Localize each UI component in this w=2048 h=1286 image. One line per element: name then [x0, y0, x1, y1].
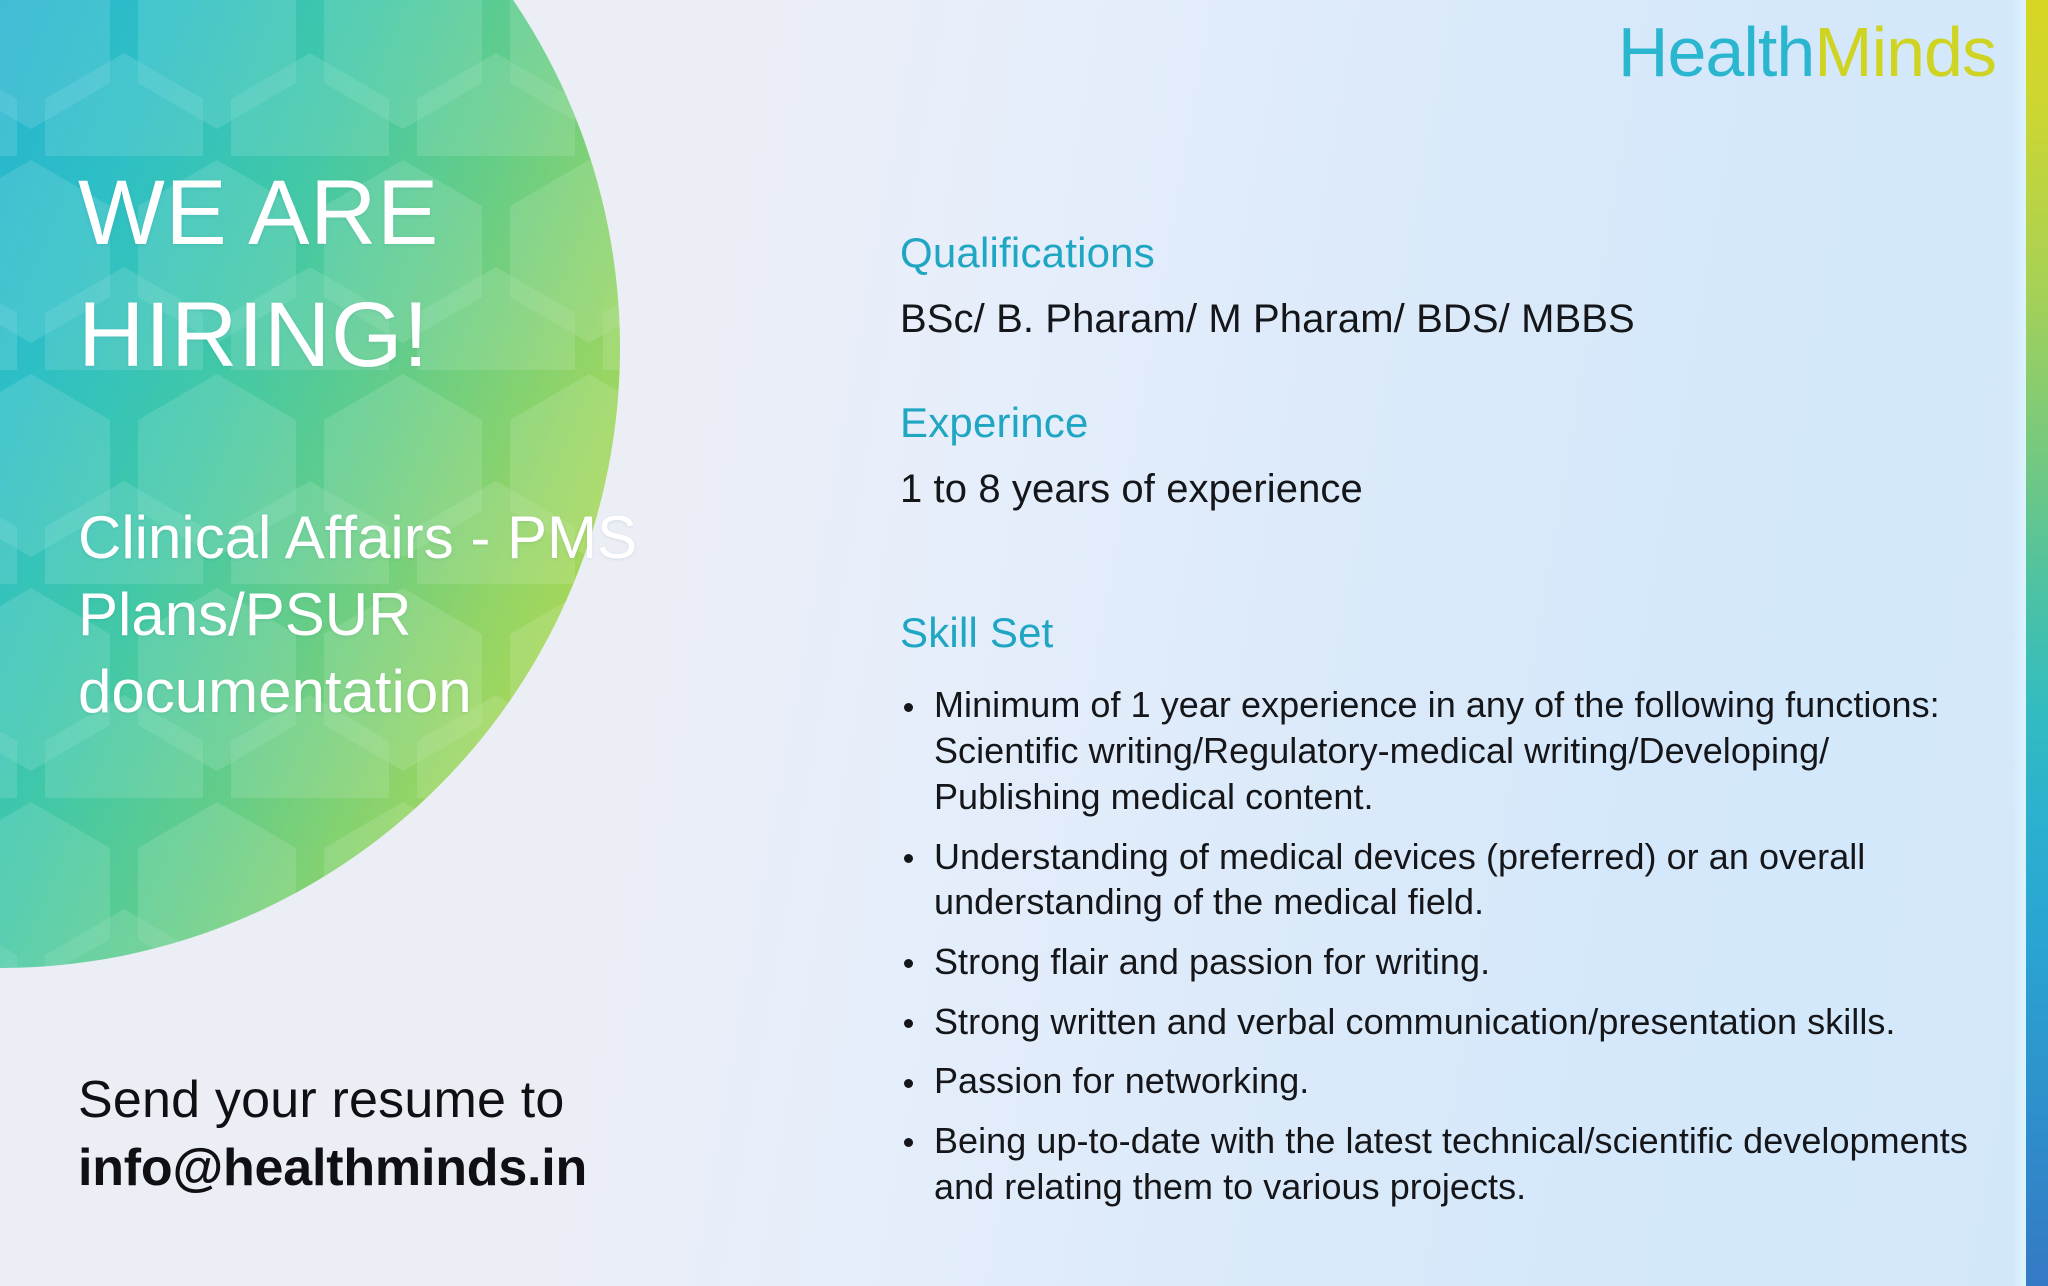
experience-body: 1 to 8 years of experience	[900, 464, 1363, 514]
bullet-dot-icon	[904, 703, 913, 712]
experience-section: Experince 1 to 8 years of experience	[900, 398, 1363, 514]
skillset-section: Skill Set Minimum of 1 year experience i…	[900, 608, 1970, 1224]
headline-line-2: HIRING!	[78, 274, 638, 396]
skillset-bullet-text: Strong written and verbal communication/…	[934, 1001, 1895, 1042]
headline-line-1: WE ARE	[78, 162, 439, 264]
headline: WE ARE HIRING!	[78, 152, 638, 397]
skillset-bullet: Understanding of medical devices (prefer…	[900, 834, 1970, 925]
bullet-dot-icon	[904, 1079, 913, 1088]
skillset-bullet: Strong written and verbal communication/…	[900, 999, 1970, 1045]
skillset-bullet-text: Being up-to-date with the latest technic…	[934, 1120, 1968, 1207]
skillset-bullet-text: Passion for networking.	[934, 1060, 1309, 1101]
skillset-bullet: Minimum of 1 year experience in any of t…	[900, 682, 1970, 819]
skillset-bullet: Being up-to-date with the latest technic…	[900, 1118, 1970, 1209]
skillset-bullet-text: Strong flair and passion for writing.	[934, 941, 1490, 982]
left-panel: WE ARE HIRING! Clinical Affairs - PMS Pl…	[0, 0, 660, 1286]
contact-block: Send your resume to info@healthminds.in	[78, 1070, 658, 1200]
contact-email[interactable]: info@healthminds.in	[78, 1137, 658, 1199]
skillset-heading: Skill Set	[900, 608, 1970, 658]
skillset-bullet: Strong flair and passion for writing.	[900, 939, 1970, 985]
skillset-bullet-text: Understanding of medical devices (prefer…	[934, 836, 1865, 923]
contact-prompt: Send your resume to	[78, 1070, 658, 1131]
hiring-poster: WE ARE HIRING! Clinical Affairs - PMS Pl…	[0, 0, 2048, 1286]
qualifications-body: BSc/ B. Pharam/ M Pharam/ BDS/ MBBS	[900, 294, 1635, 344]
right-panel: Qualifications BSc/ B. Pharam/ M Pharam/…	[900, 0, 1960, 1286]
job-title: Clinical Affairs - PMS Plans/PSUR docume…	[78, 500, 643, 730]
skillset-bullet: Passion for networking.	[900, 1058, 1970, 1104]
bullet-dot-icon	[904, 959, 913, 968]
skillset-bullet-text: Minimum of 1 year experience in any of t…	[934, 684, 1940, 816]
experience-heading: Experince	[900, 398, 1363, 448]
qualifications-heading: Qualifications	[900, 228, 1635, 278]
bullet-dot-icon	[904, 1019, 913, 1028]
skillset-list: Minimum of 1 year experience in any of t…	[900, 682, 1970, 1209]
qualifications-section: Qualifications BSc/ B. Pharam/ M Pharam/…	[900, 228, 1635, 344]
accent-strip-glow	[2012, 0, 2026, 1286]
bullet-dot-icon	[904, 1138, 913, 1147]
bullet-dot-icon	[904, 854, 913, 863]
accent-strip	[2026, 0, 2048, 1286]
